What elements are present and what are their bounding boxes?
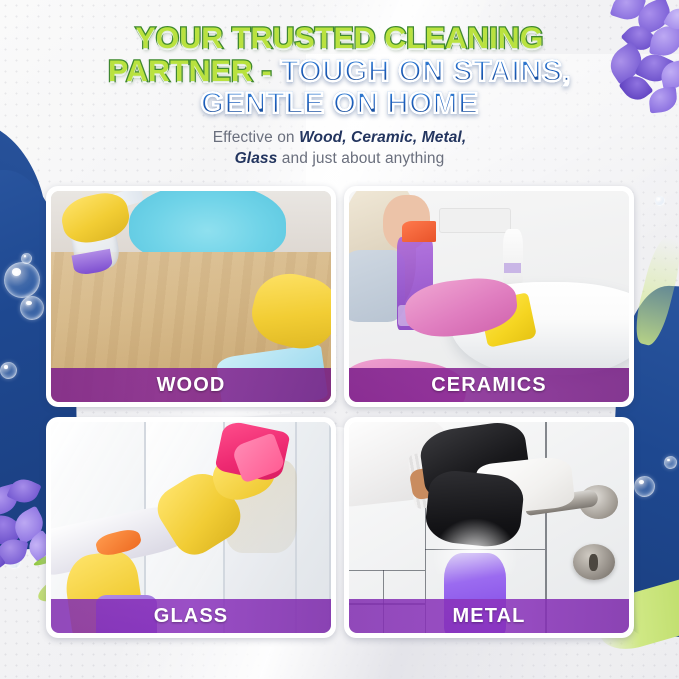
headline: YOUR TRUSTED CLEANING PARTNER - TOUGH ON…: [0, 24, 679, 120]
surface-card-grid: WOOD CERA: [46, 186, 634, 638]
card-label-bar-metal: METAL: [349, 599, 629, 633]
card-inner-glass: GLASS: [51, 422, 331, 633]
subtitle-prefix: Effective on: [213, 129, 299, 146]
card-inner-metal: METAL: [349, 422, 629, 633]
headline-line-1-green: YOUR TRUSTED CLEANING: [136, 22, 544, 55]
subtitle: Effective on Wood, Ceramic, Metal, Glass…: [0, 128, 679, 170]
subtitle-suffix: and just about anything: [277, 150, 444, 167]
card-inner-wood: WOOD: [51, 191, 331, 402]
card-label-ceramics: CERAMICS: [431, 374, 546, 397]
headline-line-3: GENTLE ON HOME: [0, 89, 679, 120]
subtitle-materials-line-2: Glass: [235, 150, 278, 167]
surface-card-wood[interactable]: WOOD: [46, 186, 336, 407]
soap-bubble-icon: [0, 362, 17, 379]
headline-line-1: YOUR TRUSTED CLEANING: [0, 24, 679, 55]
surface-card-ceramics[interactable]: CERAMICS: [344, 186, 634, 407]
card-label-metal: METAL: [453, 605, 526, 628]
card-label-glass: GLASS: [154, 605, 228, 628]
card-inner-ceramics: CERAMICS: [349, 191, 629, 402]
surface-card-glass[interactable]: GLASS: [46, 417, 336, 638]
soap-bubble-icon: [664, 456, 677, 469]
soap-bubble-icon: [4, 262, 40, 298]
soap-bubble-icon: [655, 196, 665, 206]
soap-bubble-icon: [634, 476, 655, 497]
headline-line-3-blue: GENTLE ON HOME: [201, 87, 479, 120]
soap-bubble-icon: [21, 253, 32, 264]
card-label-bar-ceramics: CERAMICS: [349, 368, 629, 402]
headline-line-2-blue: TOUGH ON STAINS,: [281, 55, 571, 88]
card-label-bar-glass: GLASS: [51, 599, 331, 633]
headline-line-2: PARTNER - TOUGH ON STAINS,: [0, 57, 679, 88]
card-label-wood: WOOD: [157, 374, 226, 397]
subtitle-materials-line-1: Wood, Ceramic, Metal,: [299, 129, 466, 146]
surface-card-metal[interactable]: METAL: [344, 417, 634, 638]
headline-line-2-green: PARTNER -: [108, 55, 272, 88]
card-label-bar-wood: WOOD: [51, 368, 331, 402]
soap-bubble-icon: [20, 296, 44, 320]
